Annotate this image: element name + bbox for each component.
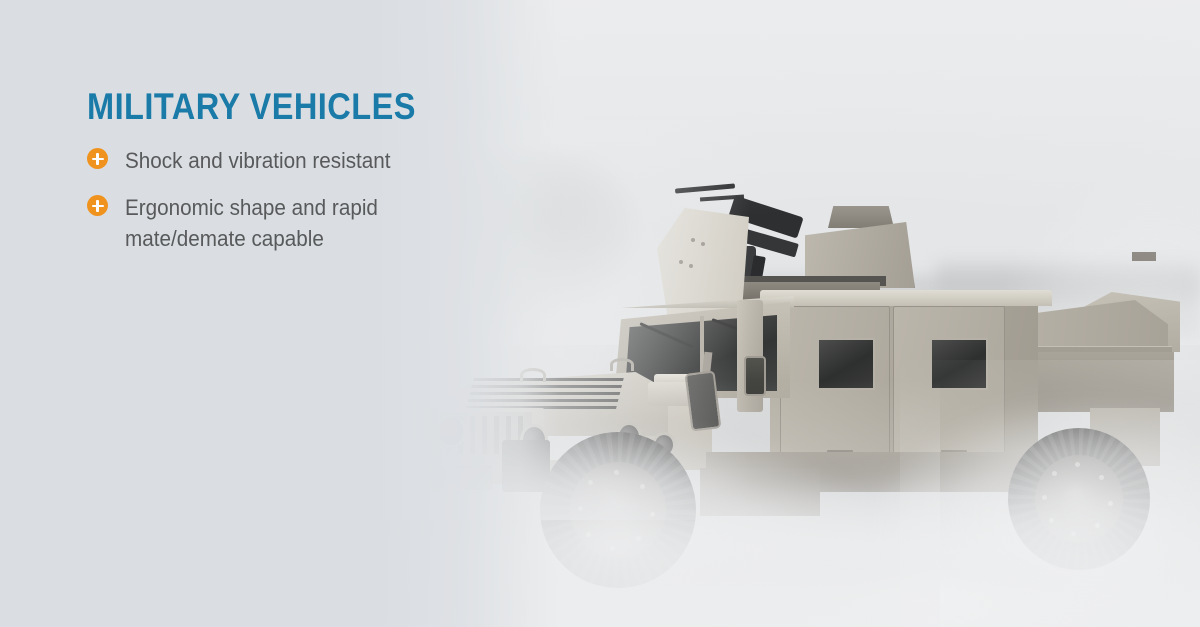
plus-circle-icon: [87, 148, 108, 169]
gun-barrel: [675, 183, 735, 193]
turret-roof-plate: [828, 206, 894, 228]
cabin-roof: [760, 290, 1052, 306]
plus-circle-icon: [87, 195, 108, 216]
rear-door-window: [930, 338, 988, 390]
list-item: Shock and vibration resistant: [87, 145, 507, 176]
feature-list: Shock and vibration resistant Ergonomic …: [87, 145, 507, 270]
mast-joint-upper: [1132, 252, 1156, 261]
feature-text: Ergonomic shape and rapid mate/demate ca…: [125, 192, 484, 254]
military-vehicles-banner: MILITARY VEHICLES Shock and vibration re…: [0, 0, 1200, 627]
front-door-window: [817, 338, 875, 390]
list-item: Ergonomic shape and rapid mate/demate ca…: [87, 192, 507, 254]
feature-text: Shock and vibration resistant: [125, 145, 391, 176]
hood-lift-ring-right: [610, 358, 634, 371]
page-title: MILITARY VEHICLES: [87, 86, 416, 128]
convex-mirror: [744, 356, 766, 396]
